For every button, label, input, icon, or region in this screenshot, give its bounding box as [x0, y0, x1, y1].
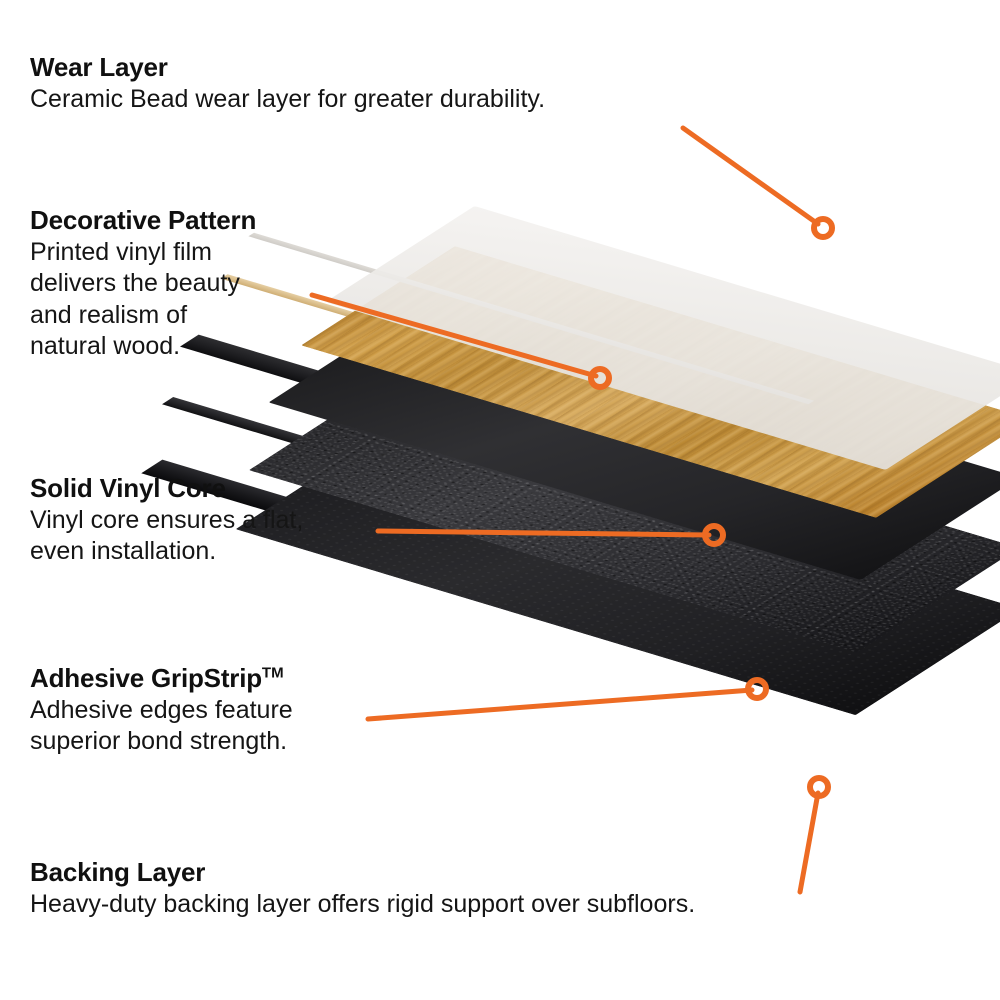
callout-adhesive-gripstrip-line-0: Adhesive edges feature [30, 695, 293, 726]
callout-solid-vinyl-core-line-0: Vinyl core ensures a flat, [30, 505, 303, 536]
trademark-symbol: TM [262, 664, 284, 681]
callout-decorative-pattern-line-0: Printed vinyl film [30, 237, 256, 268]
callout-solid-vinyl-core-body: Vinyl core ensures a flat, even installa… [30, 505, 303, 568]
layer-wear-face [326, 206, 1000, 470]
callout-backing-layer-title: Backing Layer [30, 857, 695, 887]
callout-decorative-pattern-line-3: natural wood. [30, 331, 256, 362]
callout-decorative-pattern-line-1: delivers the beauty [30, 268, 256, 299]
callout-decorative-pattern-body: Printed vinyl film delivers the beauty a… [30, 237, 256, 362]
callout-solid-vinyl-core-title: Solid Vinyl Core [30, 473, 303, 503]
callout-solid-vinyl-core: Solid Vinyl Core Vinyl core ensures a fl… [30, 473, 303, 568]
callout-decorative-pattern: Decorative Pattern Printed vinyl film de… [30, 205, 256, 362]
callout-backing-layer-body: Heavy-duty backing layer offers rigid su… [30, 889, 695, 920]
callout-wear-layer-title: Wear Layer [30, 52, 545, 82]
product-illustration [330, 200, 1000, 900]
flooring-layer-diagram: Wear Layer Ceramic Bead wear layer for g… [0, 0, 1000, 1000]
callout-decorative-pattern-title: Decorative Pattern [30, 205, 256, 235]
layer-wear [400, 218, 1000, 518]
callout-backing-layer: Backing Layer Heavy-duty backing layer o… [30, 857, 695, 920]
callout-adhesive-gripstrip-title-text: Adhesive GripStrip [30, 663, 262, 693]
callout-backing-layer-line-0: Heavy-duty backing layer offers rigid su… [30, 889, 695, 920]
callout-wear-layer-line-0: Ceramic Bead wear layer for greater dura… [30, 84, 545, 115]
callout-wear-layer-body: Ceramic Bead wear layer for greater dura… [30, 84, 545, 115]
callout-adhesive-gripstrip-body: Adhesive edges feature superior bond str… [30, 695, 293, 758]
callout-solid-vinyl-core-line-1: even installation. [30, 536, 303, 567]
callout-decorative-pattern-line-2: and realism of [30, 300, 256, 331]
callout-adhesive-gripstrip-title: Adhesive GripStripTM [30, 663, 293, 693]
callout-adhesive-gripstrip-line-1: superior bond strength. [30, 726, 293, 757]
callout-adhesive-gripstrip: Adhesive GripStripTM Adhesive edges feat… [30, 663, 293, 758]
callout-wear-layer: Wear Layer Ceramic Bead wear layer for g… [30, 52, 545, 115]
